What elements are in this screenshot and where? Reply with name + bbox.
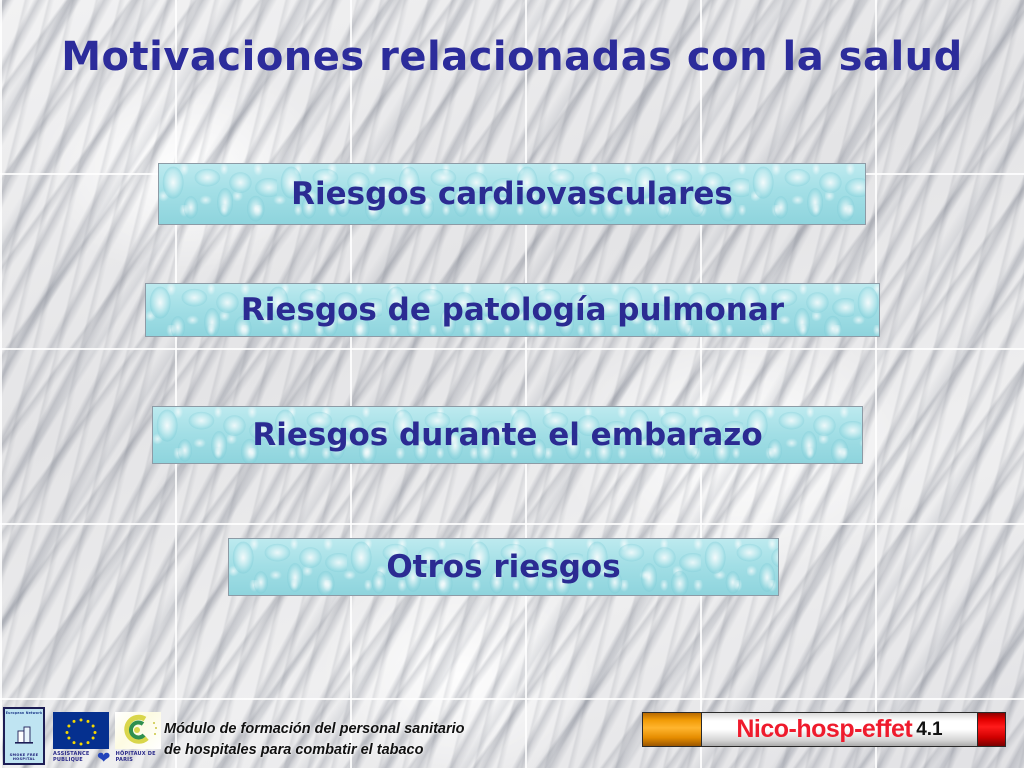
nico-hosp-effet-badge[interactable]: Nico-hosp-effet 4.1 — [642, 712, 1006, 747]
cigarette-ember-tip — [977, 713, 1005, 746]
bullet-box-pulmonary[interactable]: Riesgos de patología pulmonar — [145, 283, 880, 337]
heart-icon: ❤ — [97, 751, 111, 765]
footer-caption-line1: Módulo de formación del personal sanitar… — [164, 719, 465, 741]
sfh-bottom-text: SMOKE FREE HOSPITAL — [5, 753, 43, 762]
logo-row-top — [53, 712, 161, 749]
hospital-building-icon — [14, 724, 34, 744]
cigarette-body: Nico-hosp-effet 4.1 — [702, 713, 977, 746]
footer-logo-strip: European Network SMOKE FREE HOSPITAL — [0, 706, 168, 768]
footer-caption-line2: de hospitales para combatir el tabaco — [164, 740, 465, 762]
bullet-box-cardiovascular[interactable]: Riesgos cardiovasculares — [158, 163, 866, 225]
bullet-label: Riesgos durante el embarazo — [252, 417, 762, 453]
ap-left-text: ASSISTANCE PUBLIQUE — [53, 752, 95, 764]
badge-name: Nico-hosp-effet — [736, 715, 912, 744]
eu-stars-icon — [53, 712, 109, 749]
sfh-top-text: European Network — [6, 711, 43, 715]
bullet-box-pregnancy[interactable]: Riesgos durante el embarazo — [152, 406, 863, 464]
cigarette-filter — [643, 713, 702, 746]
green-spiral-logo-icon — [115, 712, 161, 749]
bullet-label: Riesgos cardiovasculares — [291, 176, 733, 212]
footer-caption: Módulo de formación del personal sanitar… — [164, 719, 465, 763]
bullet-box-other-risks[interactable]: Otros riesgos — [228, 538, 779, 596]
bullet-label: Riesgos de patología pulmonar — [241, 292, 784, 328]
ap-right-text: HÔPITAUX DE PARIS — [116, 752, 168, 764]
smoke-free-hospital-logo: European Network SMOKE FREE HOSPITAL — [3, 707, 45, 765]
eu-and-ap-logos: ASSISTANCE PUBLIQUE ❤ HÔPITAUX DE PARIS — [53, 712, 168, 765]
spiral-icon — [115, 712, 161, 749]
eu-flag-icon — [53, 712, 109, 749]
bullet-label: Otros riesgos — [386, 549, 620, 585]
page-title: Motivaciones relacionadas con la salud — [0, 34, 1024, 80]
badge-version: 4.1 — [916, 719, 942, 741]
assistance-publique-logo: ASSISTANCE PUBLIQUE ❤ HÔPITAUX DE PARIS — [53, 751, 168, 765]
slide-canvas: Motivaciones relacionadas con la salud R… — [0, 0, 1024, 768]
